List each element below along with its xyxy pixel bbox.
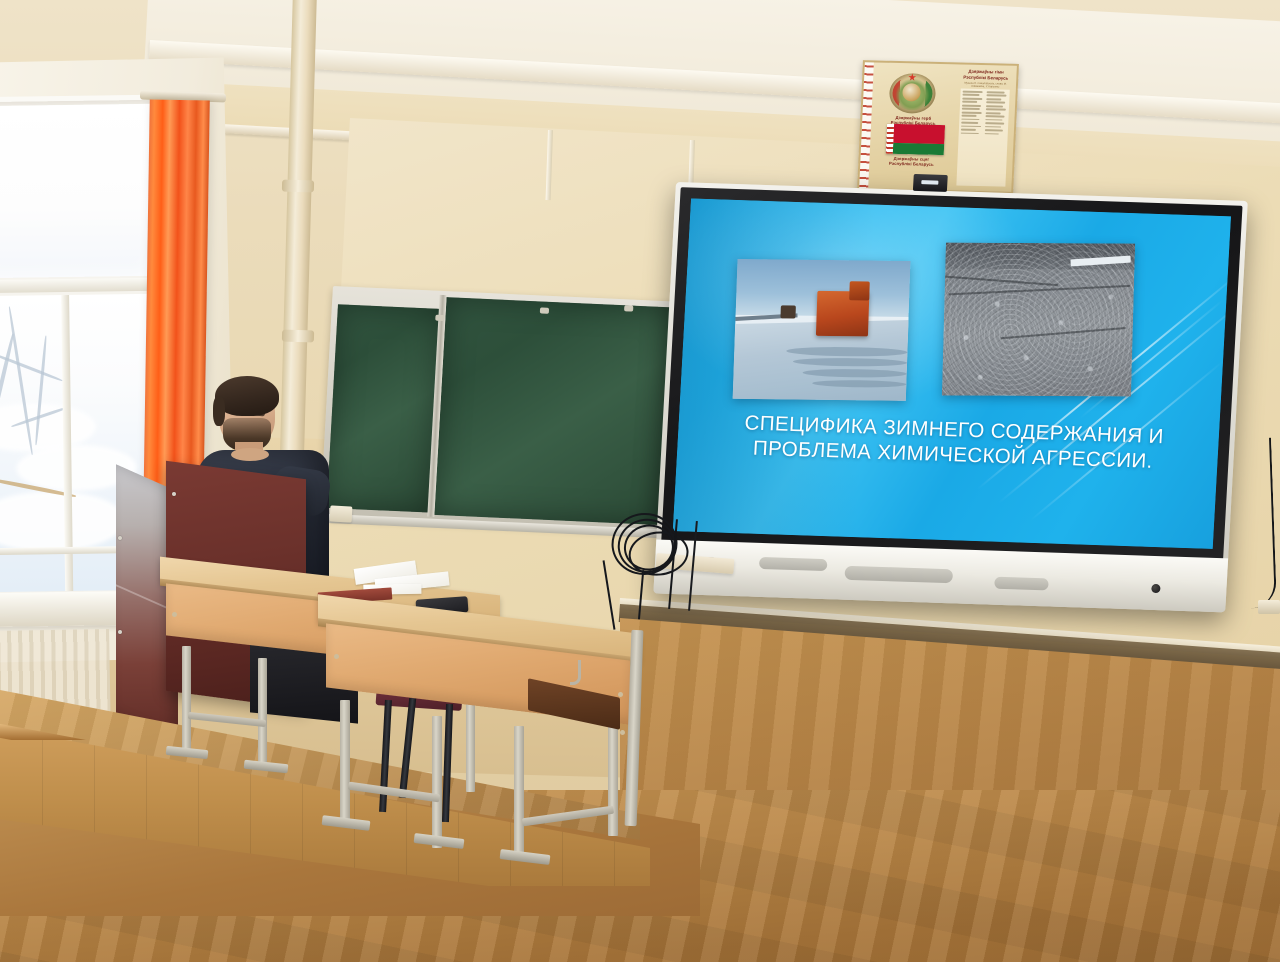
slide-image-snowplow — [733, 259, 911, 401]
pipe-ring — [282, 330, 314, 343]
chalkboard-clip — [624, 305, 633, 311]
plaque-anthem-column: Дзяржаўны гімн Рэспублікі Беларусь Музык… — [953, 67, 1014, 190]
chalkboard-clip — [435, 315, 444, 321]
window-pane-top — [0, 104, 155, 278]
speaker-grille-left — [759, 557, 828, 571]
flag-caption-line2: Рэспублікі Беларусь — [889, 161, 934, 167]
speaker-grille-center — [844, 566, 953, 584]
display-sensor-module — [913, 174, 948, 192]
display-screen[interactable]: СПЕЦИФИКА ЗИМНЕГО СОДЕРЖАНИЯ И ПРОБЛЕМА … — [673, 199, 1231, 549]
anthem-title: Дзяржаўны гімн Рэспублікі Беларусь — [958, 69, 1014, 82]
power-button[interactable] — [1151, 584, 1160, 593]
interactive-display[interactable]: СПЕЦИФИКА ЗИМНЕГО СОДЕРЖАНИЯ И ПРОБЛЕМА … — [653, 182, 1247, 612]
lectern-screw — [172, 492, 176, 496]
chalkboard-panel-right — [434, 297, 674, 525]
chalkboard-clip — [540, 307, 549, 313]
window-transom-bar — [0, 278, 159, 294]
presentation-slide: СПЕЦИФИКА ЗИМНЕГО СОДЕРЖАНИЯ И ПРОБЛЕМА … — [673, 199, 1231, 549]
green-chalkboard — [320, 286, 680, 531]
anthem-text-body — [956, 89, 1009, 187]
flag-caption: Дзяржаўны сцяг Рэспублікі Беларусь — [874, 155, 948, 167]
presenter-collar — [231, 448, 269, 461]
classroom-scene: Дзяржаўны герб Рэспублікі Беларусь Дзярж… — [0, 0, 1280, 962]
belarus-flag-icon — [886, 124, 945, 155]
lectern-screw — [118, 536, 122, 540]
chalkboard-frame — [320, 286, 680, 531]
plaque-left-column: Дзяржаўны герб Рэспублікі Беларусь Дзярж… — [871, 66, 954, 188]
pipe-ring — [282, 180, 314, 193]
lectern-screw — [118, 630, 122, 634]
speaker-grille-right — [994, 577, 1049, 591]
display-bezel: СПЕЦИФИКА ЗИМНЕГО СОДЕРЖАНИЯ И ПРОБЛЕМА … — [661, 187, 1242, 560]
slide-image-damaged-asphalt — [942, 243, 1135, 397]
chalkboard-panel-left — [327, 304, 440, 512]
presenter-hair-side — [213, 396, 225, 426]
coat-of-arms-icon — [889, 73, 937, 114]
anthem-title-line2: Рэспублікі Беларусь — [963, 74, 1008, 80]
wall-outlet[interactable] — [1258, 600, 1280, 614]
